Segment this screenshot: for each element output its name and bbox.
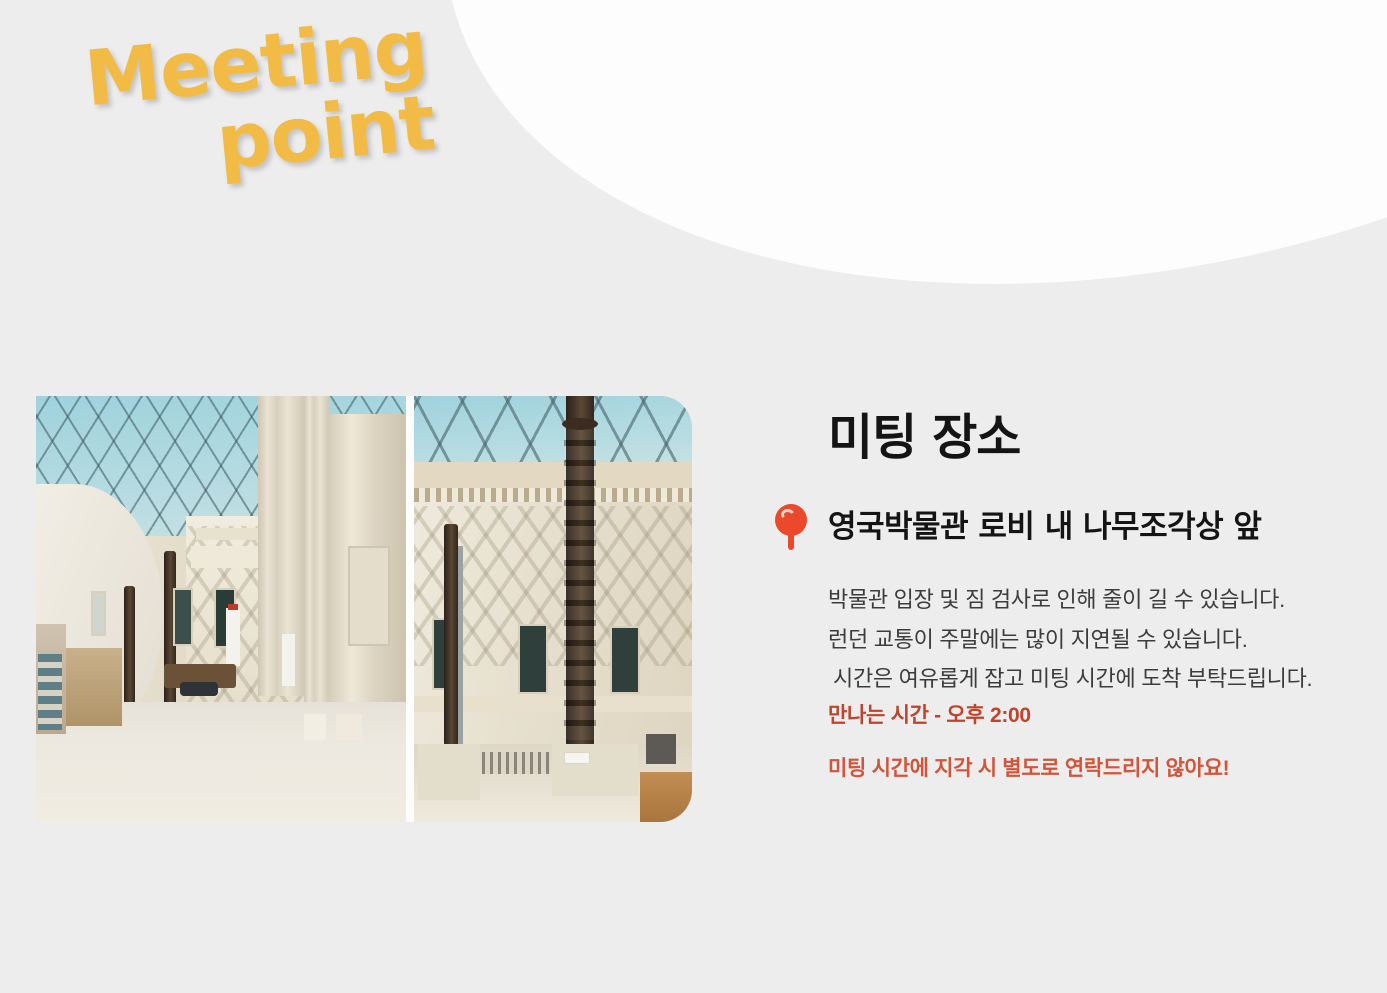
base-block-1 xyxy=(336,714,362,740)
page-title: Meeting point xyxy=(78,3,520,192)
postcard-rack xyxy=(38,654,62,730)
window-middle xyxy=(518,624,548,694)
visitor-figure xyxy=(180,682,218,696)
meeting-location: 영국박물관 로비 내 나무조각상 앞 xyxy=(828,509,1261,546)
upper-cornice xyxy=(414,462,692,488)
late-notice: 미팅 시간에 지각 시 별도로 연락드리지 않아요! xyxy=(828,751,1368,788)
totem-cap xyxy=(562,418,598,430)
info-heading: 미팅 장소 xyxy=(828,412,1368,463)
equipment-box xyxy=(646,734,676,764)
meeting-info-panel: 미팅 장소 영국박물관 로비 내 나무조각상 앞 박물관 입장 및 짐 검사로 … xyxy=(828,412,1368,787)
dentil-molding xyxy=(414,488,692,502)
photo-gallery xyxy=(36,396,692,822)
photo-great-court xyxy=(36,396,406,822)
stand-red-marker xyxy=(228,604,238,610)
meeting-time: 만나는 시간 - 오후 2:00 xyxy=(828,698,1368,735)
notice-line-2: 런던 교통이 주말에는 많이 지연될 수 있습니다. xyxy=(828,620,1368,659)
totem-carving-texture xyxy=(564,420,596,740)
plinth-label xyxy=(564,752,590,764)
window-far xyxy=(91,591,106,636)
photo-totem-poles xyxy=(414,396,692,822)
subheading-row: 영국박물관 로비 내 나무조각상 앞 xyxy=(772,504,1368,550)
doorway-recess xyxy=(348,546,390,646)
window-right xyxy=(610,626,640,694)
plinth-left xyxy=(418,744,480,800)
column-2 xyxy=(304,396,330,706)
window-dark xyxy=(173,588,193,646)
totem-pole-secondary xyxy=(444,524,458,746)
notice-body: 박물관 입장 및 짐 검사로 인해 줄이 길 수 있습니다. 런던 교통이 주말… xyxy=(828,580,1368,697)
base-block-2 xyxy=(304,714,326,740)
shop-shelves xyxy=(66,648,122,726)
railing xyxy=(482,752,550,774)
notice-line-3: 시간은 여유롭게 잡고 미팅 시간에 도착 부탁드립니다. xyxy=(828,659,1368,698)
map-pin-stem xyxy=(788,532,794,550)
map-pin-icon xyxy=(772,504,812,550)
info-stand-2 xyxy=(282,634,295,686)
wooden-desk xyxy=(640,772,692,822)
notice-line-1: 박물관 입장 및 짐 검사로 인해 줄이 길 수 있습니다. xyxy=(828,580,1368,619)
info-stand-1 xyxy=(226,608,240,666)
support-pole xyxy=(458,546,463,746)
photo-divider xyxy=(406,396,414,822)
